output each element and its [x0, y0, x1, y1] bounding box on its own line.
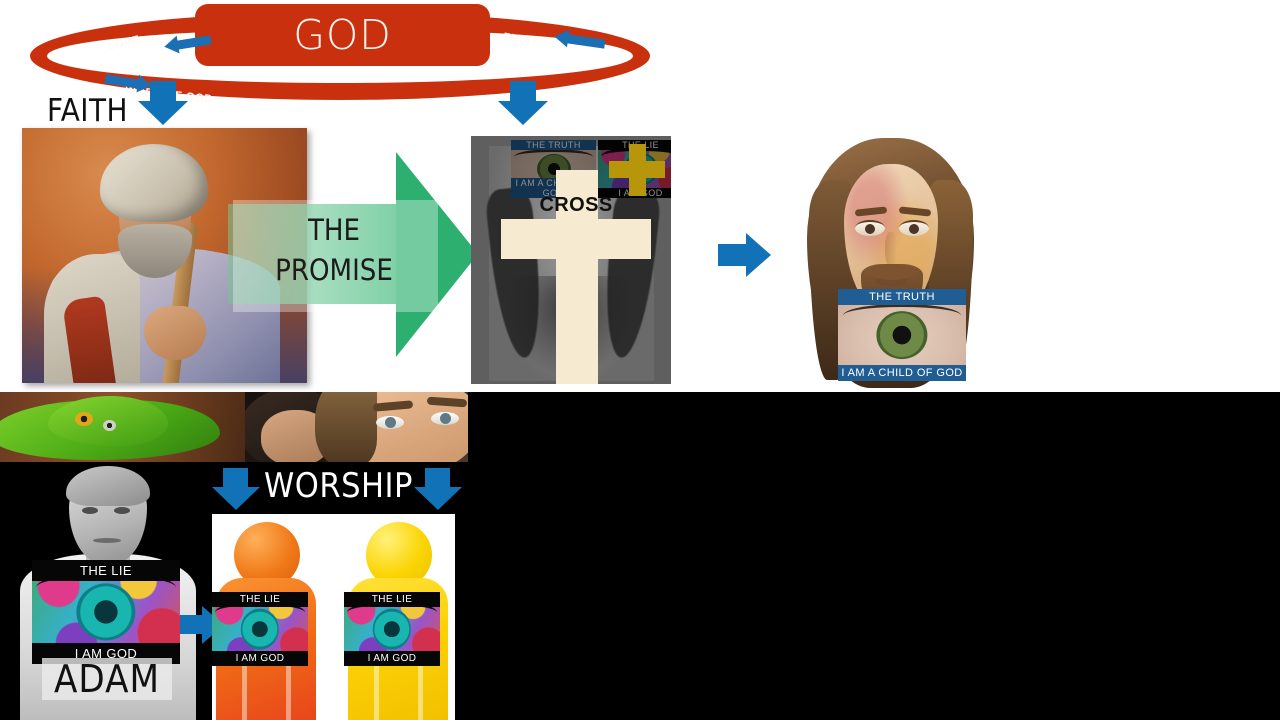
- card-lie-adam: THE LIE I AM GOD: [32, 560, 180, 664]
- arrow-shaft: [180, 615, 204, 634]
- card-lie-heading: THE LIE: [32, 560, 180, 581]
- arrow-head: [212, 487, 260, 510]
- jesus-eye-right: [899, 220, 929, 236]
- adam-eye-right: [114, 507, 130, 514]
- adam-mouth: [93, 538, 121, 543]
- worship-label: WORSHIP: [264, 466, 413, 506]
- eye-iris: [373, 609, 411, 650]
- arrow-down-to-faith-icon: [138, 81, 188, 127]
- the-promise-line1: THE: [228, 210, 440, 250]
- card-lie-footer: I AM GOD: [344, 651, 440, 666]
- arrow-down-worship-left-icon: [212, 468, 260, 512]
- adam-name-label: ADAM: [54, 660, 160, 698]
- jesus-eye-left: [855, 220, 885, 236]
- card-lie-heading: THE LIE: [212, 592, 308, 607]
- arrow-shaft: [150, 81, 176, 103]
- arrow-shaft: [223, 468, 248, 489]
- jesus-nose: [885, 232, 897, 266]
- couple-hair: [315, 392, 377, 462]
- card-lie-yellow-idol: THE LIE I AM GOD: [344, 592, 440, 666]
- idols-panel: THE LIE I AM GOD THE LIE I AM GOD: [212, 514, 455, 720]
- card-truth-footer: I AM A CHILD OF GOD: [838, 365, 966, 381]
- snake-eye: [75, 412, 93, 426]
- snake-nostril: [103, 420, 116, 431]
- arrow-right-to-jesus-icon: [718, 233, 773, 277]
- eye-iris: [241, 609, 279, 650]
- card-truth-jesus: THE TRUTH I AM A CHILD OF GOD: [838, 289, 966, 381]
- couple-eye-right: [431, 412, 459, 425]
- eye-iris: [876, 311, 927, 359]
- jesus-portrait-image: THE TRUTH I AM A CHILD OF GOD: [803, 132, 978, 392]
- arrow-head: [138, 101, 188, 125]
- couple-photo: [245, 392, 468, 462]
- arrow-head: [498, 101, 548, 125]
- slide-canvas: GOD LOVE WORD OF GOD FRUIT FAITH: [0, 0, 1280, 720]
- abraham-hands: [144, 306, 206, 360]
- arrow-shaft: [718, 244, 748, 266]
- god-cycle-loop: GOD LOVE WORD OF GOD FRUIT: [30, 4, 655, 104]
- card-lie-orange-idol: THE LIE I AM GOD: [212, 592, 308, 666]
- faith-label: FAITH: [47, 93, 128, 129]
- arrow-down-worship-right-icon: [414, 468, 462, 512]
- adam-eye-left: [82, 507, 98, 514]
- jesus-moustache: [867, 264, 917, 280]
- adam-name-plate: ADAM: [42, 658, 172, 700]
- cross-horizontal-bar: [501, 219, 651, 259]
- adam-image: THE LIE I AM GOD ADAM: [14, 462, 202, 720]
- arrow-shaft: [425, 468, 450, 489]
- the-promise-arrow: THE PROMISE: [228, 152, 478, 357]
- arrow-head: [414, 487, 462, 510]
- arrow-head: [746, 233, 771, 277]
- snake-photo: [0, 392, 245, 462]
- card-lie-footer: I AM GOD: [212, 651, 308, 666]
- god-title-box: GOD: [195, 4, 490, 66]
- eye-iris: [76, 583, 135, 640]
- couple-eye-left: [376, 416, 404, 429]
- cross-panel: THE TRUTH I AM A CHILD OF GOD THE LIE I …: [471, 136, 671, 384]
- god-title-label: GOD: [293, 15, 392, 56]
- the-promise-label: THE PROMISE: [228, 210, 440, 290]
- card-lie-heading: THE LIE: [344, 592, 440, 607]
- cross-label: CROSS: [501, 186, 651, 224]
- arrow-down-to-cross-icon: [498, 81, 548, 127]
- the-promise-line2: PROMISE: [228, 250, 440, 290]
- card-truth-heading: THE TRUTH: [838, 289, 966, 305]
- arrow-shaft: [510, 81, 536, 103]
